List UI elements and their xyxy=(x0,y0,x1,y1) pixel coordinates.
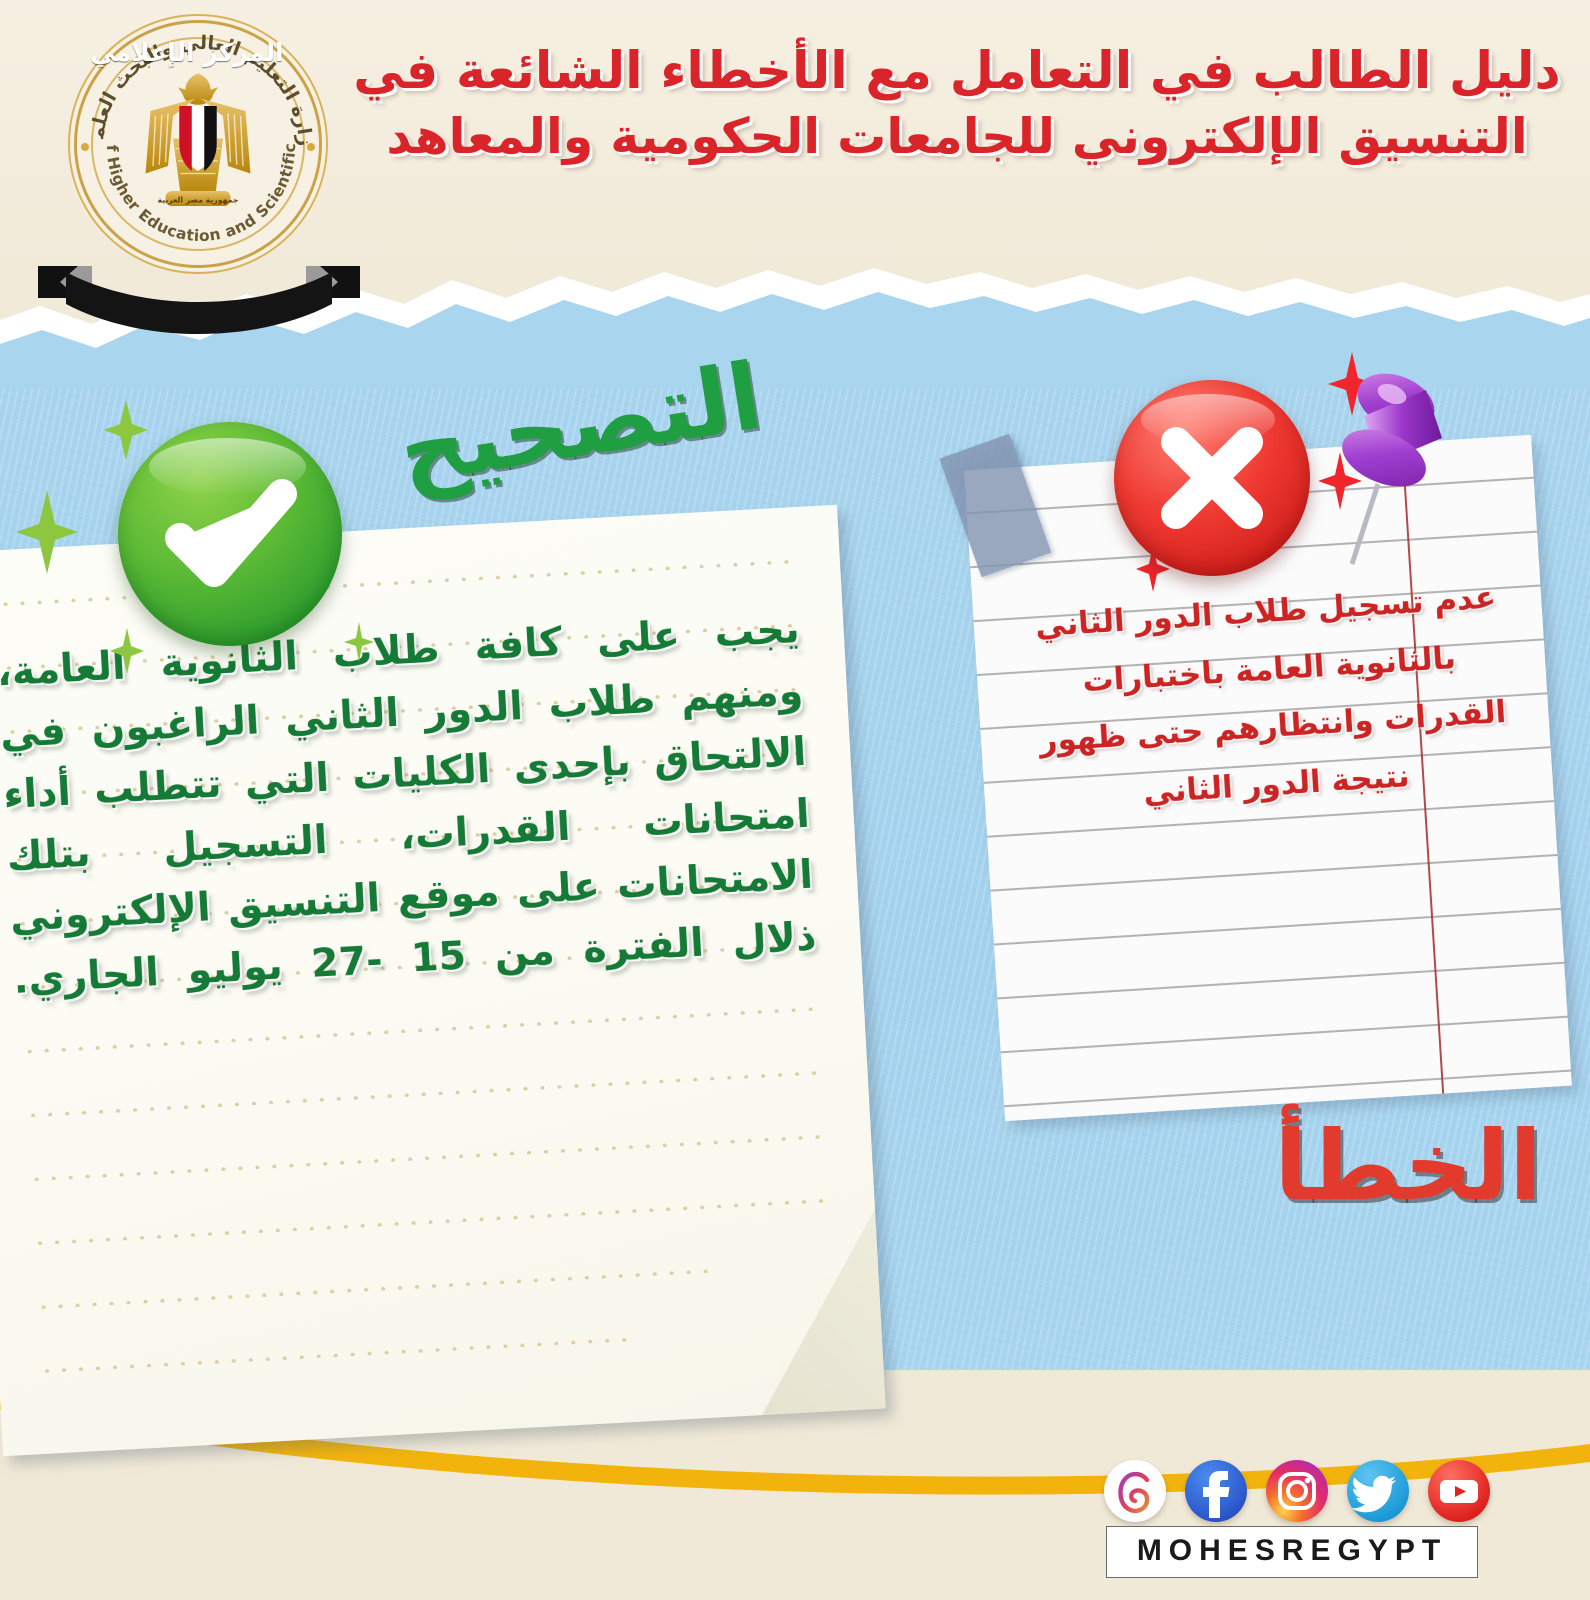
infographic-poster: وزارة التعليم العالي والبحث العلمي Minis… xyxy=(0,0,1590,1600)
threads-icon[interactable] xyxy=(1104,1460,1166,1522)
pushpin-icon xyxy=(1318,372,1478,572)
instagram-icon[interactable] xyxy=(1266,1460,1328,1522)
emblem-caption: جمهورية مصر العربية xyxy=(157,195,238,204)
wrong-heading-text: الخطأ xyxy=(1274,1110,1542,1222)
social-links xyxy=(1104,1460,1490,1522)
facebook-icon[interactable] xyxy=(1185,1460,1247,1522)
ribbon-label: المركز الإعلامي xyxy=(22,38,352,67)
youtube-icon[interactable] xyxy=(1428,1460,1490,1522)
social-handle-text: MOHESREGYPT xyxy=(1137,1534,1447,1567)
x-circle-icon xyxy=(1114,380,1310,576)
social-handle-box: MOHESREGYPT xyxy=(1106,1526,1478,1578)
check-circle-icon xyxy=(118,422,342,646)
poster-title: دليل الطالب في التعامل مع الأخطاء الشائع… xyxy=(352,38,1562,170)
sparkle-icon xyxy=(16,490,78,574)
ministry-logo: وزارة التعليم العالي والبحث العلمي Minis… xyxy=(22,8,352,338)
twitter-icon[interactable] xyxy=(1347,1460,1409,1522)
wrong-heading: الخطأ xyxy=(1274,1118,1542,1214)
wrong-note-text: عدم تسجيل طلاب الدور الثاني بالثانوية ال… xyxy=(1012,568,1529,830)
sparkle-icon xyxy=(344,622,374,662)
title-line-2: التنسيق الإلكتروني للجامعات الحكومية وال… xyxy=(352,105,1562,170)
title-line-1: دليل الطالب في التعامل مع الأخطاء الشائع… xyxy=(352,38,1562,105)
eagle-of-saladin-icon: جمهورية مصر العربية xyxy=(123,66,273,216)
media-center-ribbon xyxy=(32,260,366,340)
